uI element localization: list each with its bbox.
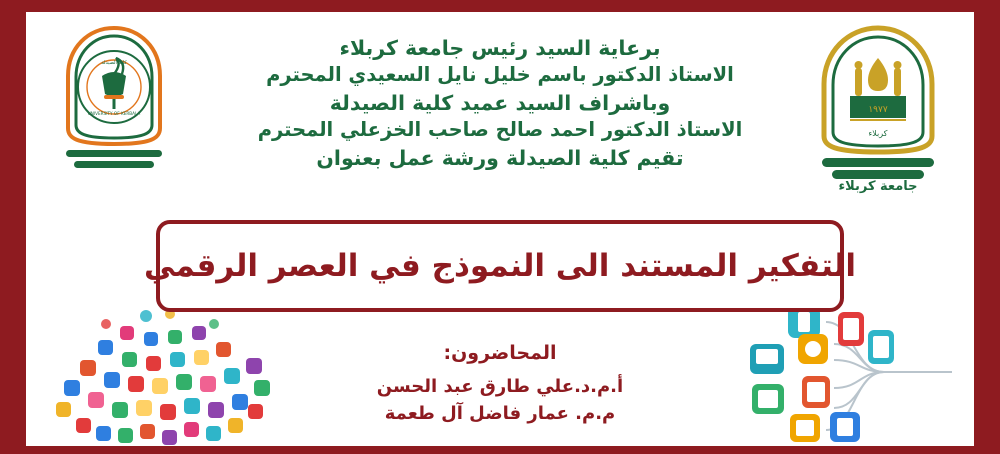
workshop-title-box: التفكير المستند الى النموذج في العصر الر… xyxy=(156,220,844,312)
university-logo: ١٩٧٧ كربلاء جامعة كربلاء xyxy=(798,24,958,194)
header-line-2: الاستاذ الدكتور باسم خليل نايل السعيدي ا… xyxy=(216,62,784,89)
svg-text:UNIVERSITY OF KERBALA: UNIVERSITY OF KERBALA xyxy=(88,111,141,116)
header-line-3: وباشراف السيد عميد كلية الصيدلة xyxy=(216,89,784,117)
speaker-name-2: م.م. عمار فاضل آل طعمة xyxy=(306,400,694,427)
poster: كلية الصيدلة UNIVERSITY OF KERBALA xyxy=(0,0,1000,454)
pharmacy-college-logo: كلية الصيدلة UNIVERSITY OF KERBALA xyxy=(44,24,184,174)
svg-text:كلية الصيدلة: كلية الصيدلة xyxy=(101,60,127,66)
poster-inner: كلية الصيدلة UNIVERSITY OF KERBALA xyxy=(26,12,974,446)
header-block: برعاية السيد رئيس جامعة كربلاء الاستاذ ا… xyxy=(216,34,784,173)
header-line-5: تقيم كلية الصيدلة ورشة عمل بعنوان xyxy=(216,144,784,172)
header-line-4: الاستاذ الدكتور احمد صالح صاحب الخزعلي ا… xyxy=(216,117,784,144)
speakers-block: المحاضرون: أ.م.د.علي طارق عبد الحسن م.م.… xyxy=(306,342,694,427)
speaker-name-1: أ.م.د.علي طارق عبد الحسن xyxy=(306,373,694,400)
svg-text:جامعة كربلاء: جامعة كربلاء xyxy=(838,179,917,194)
svg-text:١٩٧٧: ١٩٧٧ xyxy=(868,105,888,115)
speakers-label: المحاضرون: xyxy=(306,342,694,364)
frame-border-right xyxy=(974,0,1000,454)
connected-devices-artwork xyxy=(734,296,964,446)
frame-border-left xyxy=(0,0,26,454)
workshop-title: التفكير المستند الى النموذج في العصر الر… xyxy=(144,248,856,284)
frame-border-top xyxy=(0,0,1000,12)
svg-text:كربلاء: كربلاء xyxy=(869,129,888,138)
frame-border-bottom xyxy=(0,446,1000,454)
header-line-1: برعاية السيد رئيس جامعة كربلاء xyxy=(216,34,784,62)
social-media-icons-artwork xyxy=(46,306,336,446)
